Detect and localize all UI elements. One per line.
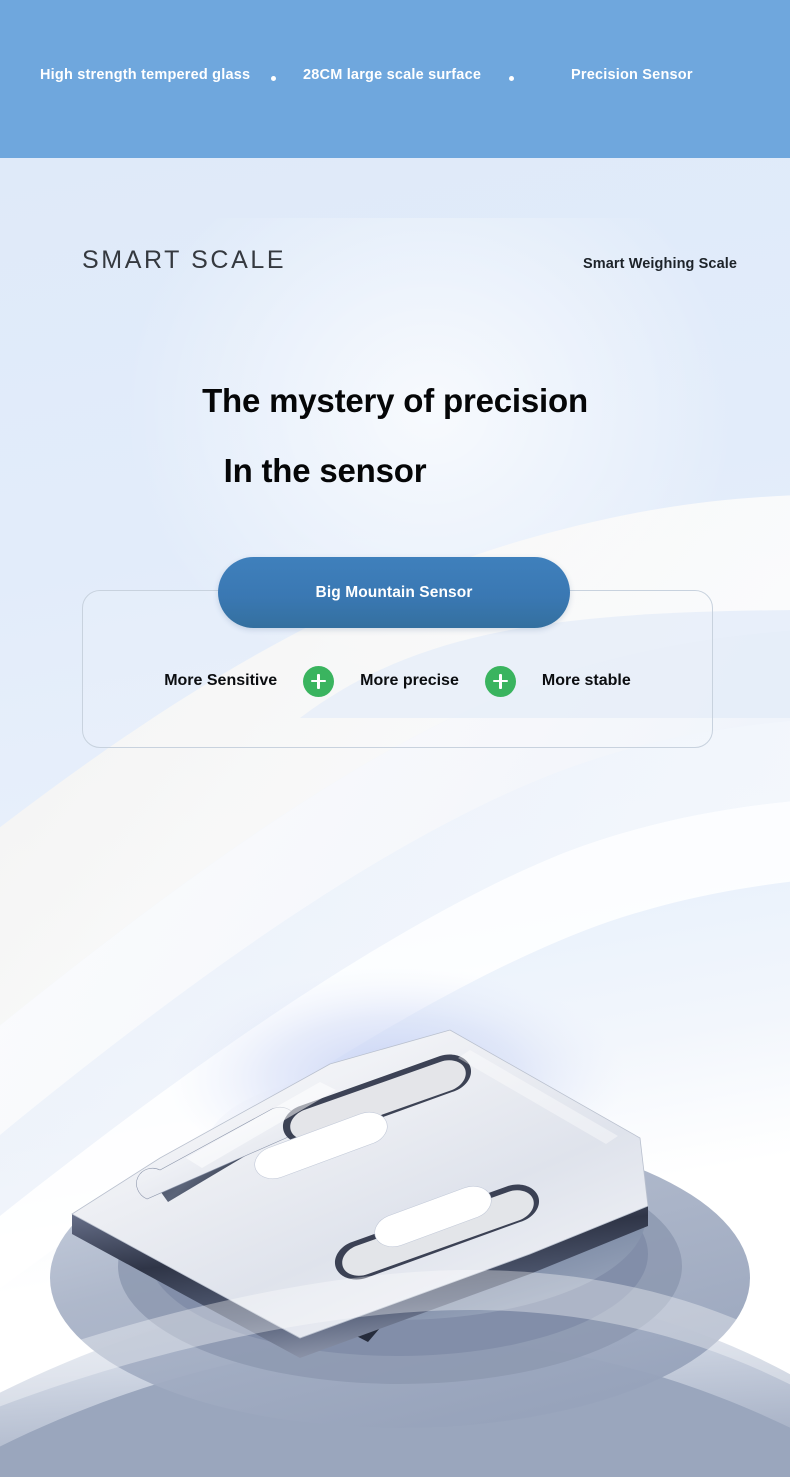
plus-icon: [303, 666, 334, 697]
background-wave-decoration: [0, 158, 790, 1477]
product-image-sensor-render: [0, 718, 790, 1477]
plus-icon: [485, 666, 516, 697]
sensor-name-label: Big Mountain Sensor: [316, 584, 473, 602]
sensor-slot-upper: [283, 1054, 471, 1143]
sensor-slot-lower: [335, 1184, 539, 1279]
banner-item-scale-surface: 28CM large scale surface: [303, 65, 481, 85]
dot-separator-icon: [509, 76, 514, 81]
load-cell-sensor: [72, 1030, 648, 1358]
dot-separator-icon: [271, 76, 276, 81]
banner-items-row: High strength tempered glass 28CM large …: [0, 0, 790, 158]
product-subtitle: Smart Weighing Scale: [583, 256, 737, 272]
benefit-label-more-stable: More stable: [542, 672, 631, 690]
sensor-glow: [166, 966, 626, 1190]
benefit-label-more-sensitive: More Sensitive: [164, 672, 277, 690]
headline-secondary: In the sensor: [0, 452, 650, 490]
sensor-arm-upper: [136, 1107, 296, 1202]
hero-stage: SMART SCALE Smart Weighing Scale The mys…: [0, 158, 790, 1477]
banner-item-tempered-glass: High strength tempered glass: [40, 65, 250, 85]
headline-primary: The mystery of precision: [0, 382, 790, 420]
sensor-plate-edge: [72, 1206, 648, 1358]
sensor-arm-lower: [234, 1252, 397, 1342]
benefit-label-more-precise: More precise: [360, 672, 459, 690]
feature-banner: High strength tempered glass 28CM large …: [0, 0, 790, 158]
benefits-row: More Sensitive More precise More stable: [82, 658, 713, 704]
pedestal-rings: [146, 1060, 646, 1320]
sensor-name-badge[interactable]: Big Mountain Sensor: [218, 557, 570, 628]
scale-base-basin: [0, 1128, 790, 1477]
banner-item-precision-sensor: Precision Sensor: [571, 65, 693, 85]
product-detail-page: High strength tempered glass 28CM large …: [0, 0, 790, 1477]
page-title: SMART SCALE: [82, 246, 286, 275]
sensor-plate-top: [72, 1030, 648, 1338]
